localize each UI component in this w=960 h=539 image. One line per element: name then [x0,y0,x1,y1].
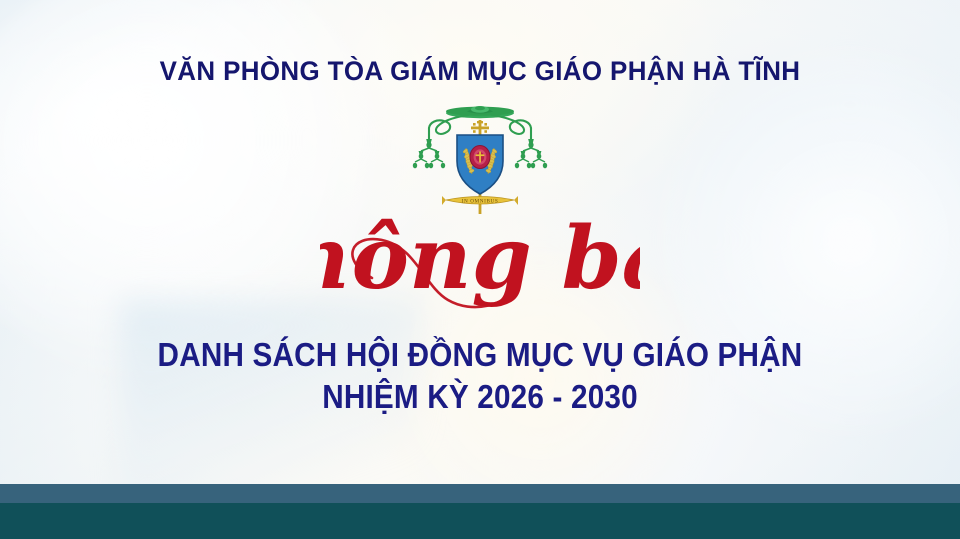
headline-line-1: DANH SÁCH HỘI ĐỒNG MỤC VỤ GIÁO PHẬN [48,334,912,376]
motto-text: IN OMNIBUS [462,199,499,205]
footer-band-slate [0,484,960,503]
coat-of-arms-icon: IN OMNIBUS [400,104,560,222]
heart-emblem [470,146,490,169]
main-headline: DANH SÁCH HỘI ĐỒNG MỤC VỤ GIÁO PHẬN NHIỆ… [0,334,960,418]
motto-scroll: IN OMNIBUS [442,196,518,205]
footer-band-teal [0,503,960,539]
shield-shape [457,135,503,194]
script-heading: Thông báo [0,216,960,320]
tassels-left [413,139,445,168]
headline-line-2: NHIỆM KỲ 2026 - 2030 [48,376,912,418]
announcement-poster: VĂN PHÒNG TÒA GIÁM MỤC GIÁO PHẬN HÀ TĨNH [0,0,960,539]
galero-shape [446,106,514,118]
tassels-right [515,139,547,168]
script-word-text: Thông báo [320,216,640,309]
office-title: VĂN PHÒNG TÒA GIÁM MỤC GIÁO PHẬN HÀ TĨNH [19,54,941,88]
